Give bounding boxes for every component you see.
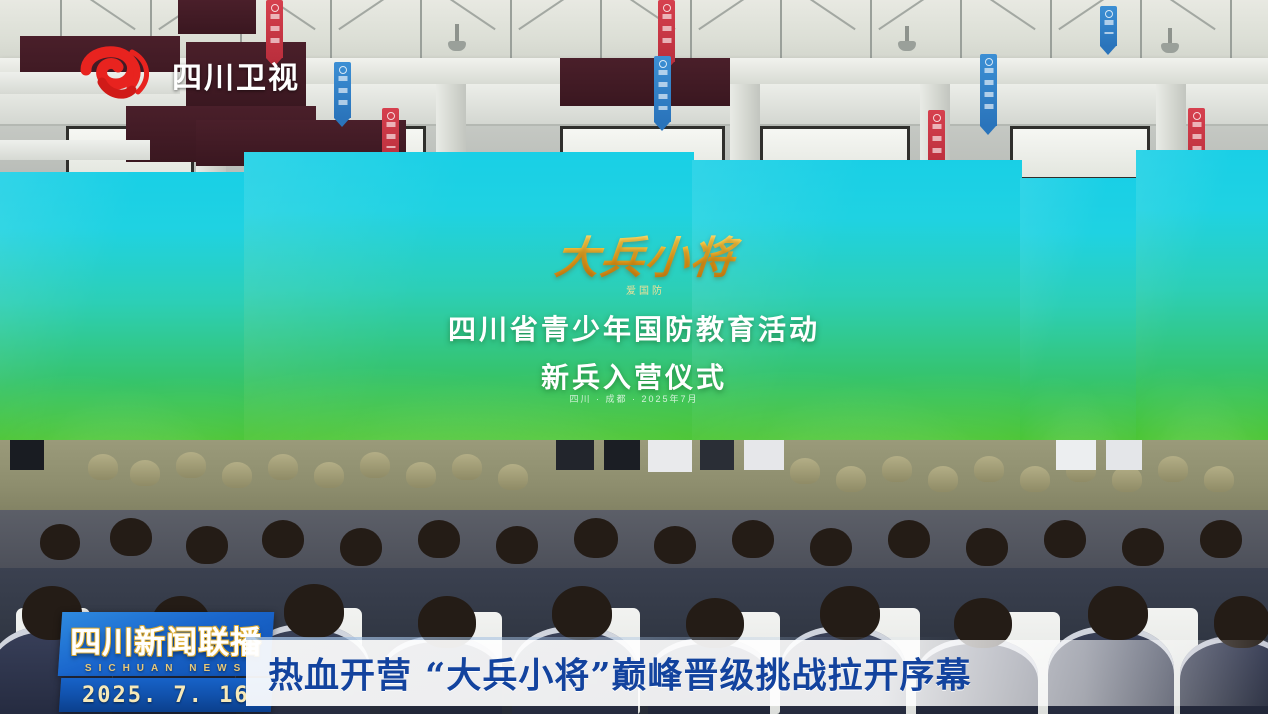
hanging-banner-red: [658, 0, 675, 62]
audience-member: [262, 520, 304, 558]
hanging-banner-blue: [654, 56, 671, 122]
audience-member: [110, 518, 152, 556]
stage-staff: [700, 440, 734, 470]
hanging-banner-blue: [980, 54, 997, 126]
audience-member-camo: [452, 454, 482, 480]
stage-led-wall: [0, 150, 1268, 480]
broadcast-frame: 大兵小将 爱国防 四川省青少年国防教育活动 新兵入营仪式 四川 · 成都 · 2…: [0, 0, 1268, 714]
led-panel: [1020, 178, 1138, 482]
channel-logo: 四川卫视: [72, 44, 300, 106]
audience-member-camo: [406, 462, 436, 488]
program-name-en: SICHUAN NEWS: [60, 663, 272, 674]
audience-member: [654, 526, 696, 564]
hanging-banner-blue: [1100, 6, 1117, 46]
pendant-light: [455, 24, 459, 42]
stage-staff-white: [744, 440, 784, 470]
channel-name: 四川卫视: [172, 53, 300, 97]
audience-member: [732, 520, 774, 558]
audience-member-camo: [1020, 466, 1050, 492]
audience-member-camo: [88, 454, 118, 480]
stage-staff: [556, 440, 594, 470]
stage-photographer: [10, 440, 44, 470]
audience-member-camo: [498, 464, 528, 490]
audience-member: [888, 520, 930, 558]
stage-staff-white: [1106, 440, 1142, 470]
audience-member-camo: [928, 466, 958, 492]
led-panel-center-right: [692, 160, 1022, 482]
program-badge: 四川新闻联播 SICHUAN NEWS: [58, 612, 274, 676]
audience-member-camo: [1204, 466, 1234, 492]
headline-text: 热血开营 “大兵小将”巅峰晋级挑战拉开序幕: [268, 648, 971, 699]
audience-member-camo: [360, 452, 390, 478]
broadcast-date: 2025. 7. 16: [82, 683, 250, 708]
audience-member: [340, 528, 382, 566]
audience-member: [418, 520, 460, 558]
audience-member-camo: [1158, 456, 1188, 482]
audience-member-camo: [314, 462, 344, 488]
audience-member: [810, 528, 852, 566]
audience-member: [186, 526, 228, 564]
audience-member: [966, 528, 1008, 566]
audience-member-camo: [268, 454, 298, 480]
audience-member: [40, 524, 80, 560]
stage-camera-operator: [604, 440, 640, 470]
pendant-light: [1168, 28, 1172, 44]
audience-member: [574, 518, 618, 558]
audience-member-camo: [974, 456, 1004, 482]
audience-member-camo: [130, 460, 160, 486]
led-panel: [0, 172, 246, 482]
lower-third: 四川新闻联播 SICHUAN NEWS 2025. 7. 16 热血开营 “大兵…: [0, 579, 1268, 714]
led-panel-center-left: [244, 152, 694, 482]
date-badge: 2025. 7. 16: [59, 678, 273, 712]
audience-member-camo: [222, 462, 252, 488]
led-panel: [1136, 150, 1268, 482]
audience-member-camo: [836, 466, 866, 492]
stage-staff-white: [1056, 440, 1096, 470]
audience-member-camo: [176, 452, 206, 478]
audience-member: [1044, 520, 1086, 558]
stage-staff-white: [648, 440, 692, 472]
program-name-cn: 四川新闻联播: [60, 617, 272, 662]
hanging-banner-blue: [334, 62, 351, 118]
backdrop-panel: [560, 58, 730, 106]
audience-member-camo: [790, 458, 820, 484]
audience-member: [496, 526, 538, 564]
headline-strip: 热血开营 “大兵小将”巅峰晋级挑战拉开序幕: [246, 640, 1268, 706]
pendant-light: [905, 26, 909, 42]
sichuan-tv-swirl-icon: [72, 44, 158, 106]
backdrop-panel: [178, 0, 256, 34]
audience-member-camo: [882, 456, 912, 482]
audience-member: [1122, 528, 1164, 566]
audience-member: [1200, 520, 1242, 558]
